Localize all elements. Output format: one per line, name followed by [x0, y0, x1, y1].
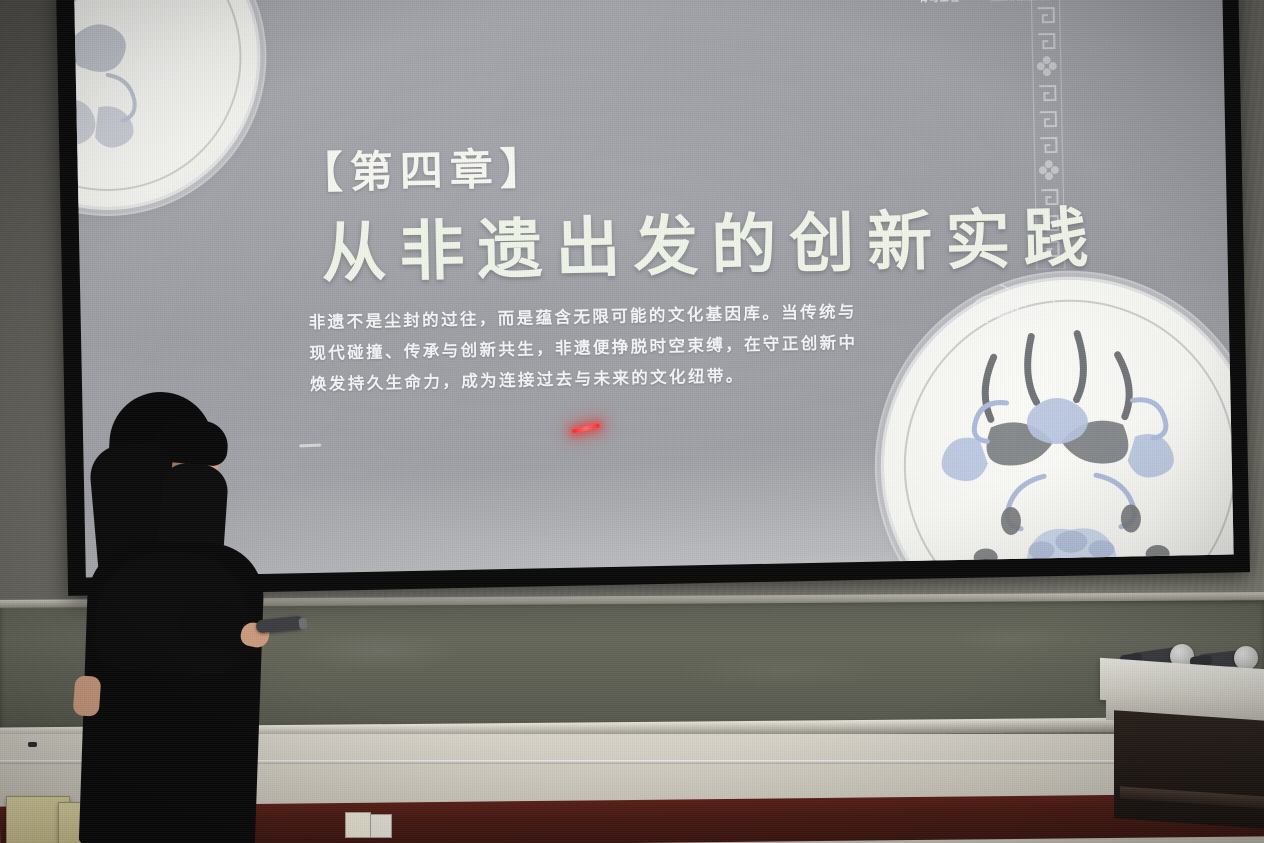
photo-scene: 青马工程 文馨院 School of Cultural Arts [0, 0, 1264, 843]
lectern-body [1114, 710, 1264, 830]
wall-clip [28, 742, 37, 747]
presenter-lower-hand [73, 675, 102, 717]
presentation-remote [255, 616, 304, 634]
floor-socket [370, 814, 392, 838]
lectern [1100, 664, 1264, 824]
floor-socket [345, 812, 371, 838]
presenter [60, 392, 300, 843]
presentation-remote-tip [298, 618, 307, 630]
